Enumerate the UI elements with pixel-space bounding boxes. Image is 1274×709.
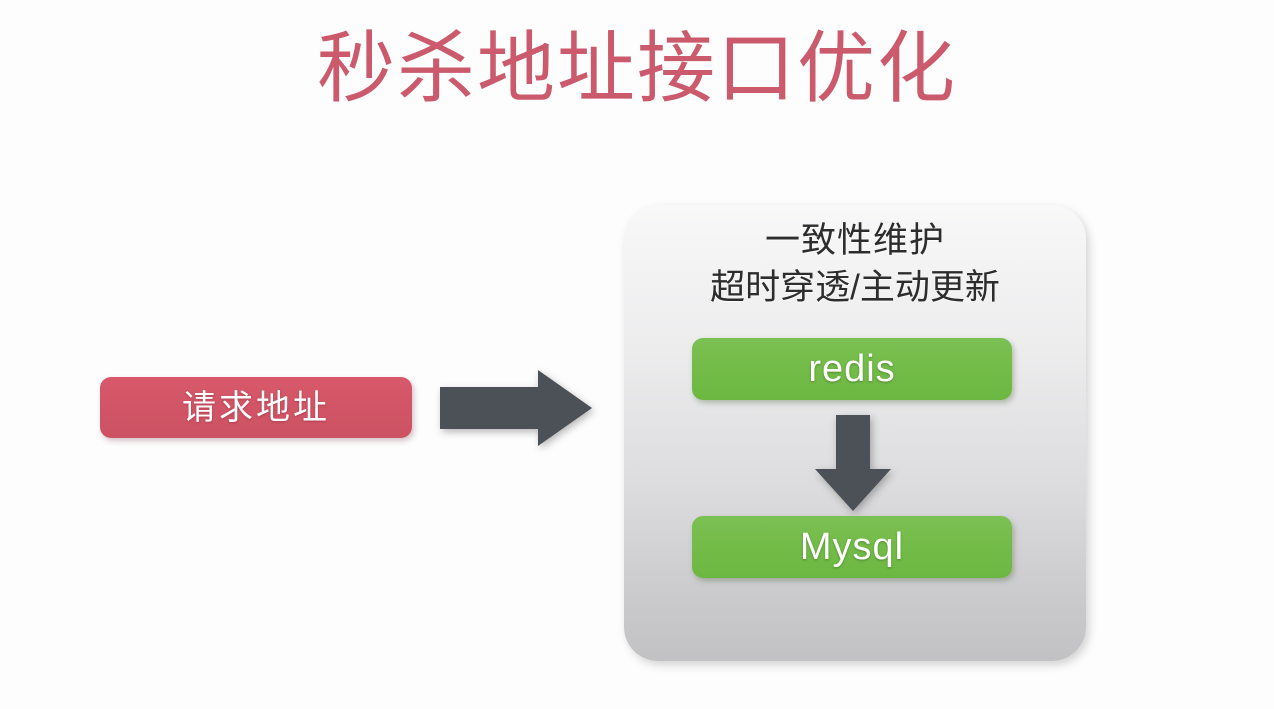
stack-caption: 一致性维护 超时穿透/主动更新 xyxy=(624,217,1086,311)
cache-db-stack-container: 一致性维护 超时穿透/主动更新 redis Mysql xyxy=(624,205,1086,661)
request-address-node[interactable]: 请求地址 xyxy=(100,377,412,438)
page-title: 秒杀地址接口优化 xyxy=(0,18,1274,118)
mysql-node[interactable]: Mysql xyxy=(692,516,1012,578)
mysql-node-label: Mysql xyxy=(800,528,904,566)
redis-node[interactable]: redis xyxy=(692,338,1012,400)
request-address-node-label: 请求地址 xyxy=(182,391,330,425)
stack-caption-line-2: 超时穿透/主动更新 xyxy=(624,264,1086,311)
arrow-down-icon xyxy=(813,415,893,511)
arrow-right-icon xyxy=(440,368,592,448)
stack-caption-line-1: 一致性维护 xyxy=(765,221,945,260)
redis-node-label: redis xyxy=(808,350,895,388)
